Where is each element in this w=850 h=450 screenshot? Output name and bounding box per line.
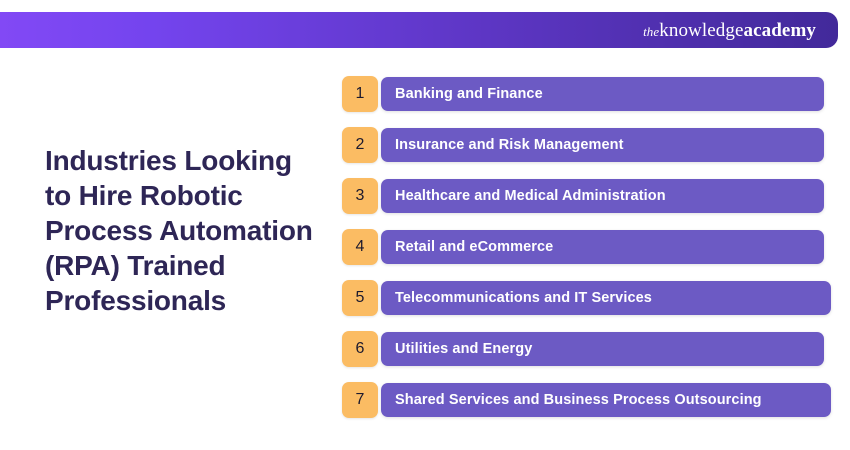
- list-item[interactable]: 4 Retail and eCommerce: [342, 229, 842, 265]
- list-item[interactable]: 1 Banking and Finance: [342, 76, 842, 112]
- item-number-badge: 1: [342, 76, 378, 112]
- list-item[interactable]: 2 Insurance and Risk Management: [342, 127, 842, 163]
- list-item[interactable]: 6 Utilities and Energy: [342, 331, 842, 367]
- item-label: Retail and eCommerce: [395, 239, 553, 255]
- list-item[interactable]: 3 Healthcare and Medical Administration: [342, 178, 842, 214]
- item-label: Banking and Finance: [395, 86, 543, 102]
- item-label: Shared Services and Business Process Out…: [395, 392, 762, 408]
- item-number-badge: 2: [342, 127, 378, 163]
- item-bar[interactable]: Insurance and Risk Management: [381, 128, 824, 162]
- item-bar[interactable]: Healthcare and Medical Administration: [381, 179, 824, 213]
- item-label: Healthcare and Medical Administration: [395, 188, 666, 204]
- item-number-badge: 6: [342, 331, 378, 367]
- item-number-badge: 5: [342, 280, 378, 316]
- list-item[interactable]: 7 Shared Services and Business Process O…: [342, 382, 842, 418]
- content-area: Industries Looking to Hire Robotic Proce…: [0, 48, 850, 450]
- header-bar: theknowledgeacademy: [0, 12, 838, 48]
- item-bar[interactable]: Banking and Finance: [381, 77, 824, 111]
- item-number-badge: 7: [342, 382, 378, 418]
- item-label: Insurance and Risk Management: [395, 137, 624, 153]
- item-bar[interactable]: Retail and eCommerce: [381, 230, 824, 264]
- title-block: Industries Looking to Hire Robotic Proce…: [45, 143, 315, 318]
- item-bar[interactable]: Shared Services and Business Process Out…: [381, 383, 831, 417]
- page-title: Industries Looking to Hire Robotic Proce…: [45, 143, 315, 318]
- item-number-badge: 3: [342, 178, 378, 214]
- item-label: Utilities and Energy: [395, 341, 532, 357]
- logo-academy-text: academy: [744, 20, 816, 41]
- logo-the-text: the: [643, 24, 659, 39]
- item-label: Telecommunications and IT Services: [395, 290, 652, 306]
- logo-knowledge-text: knowledge: [659, 20, 743, 41]
- item-bar[interactable]: Utilities and Energy: [381, 332, 824, 366]
- item-number-badge: 4: [342, 229, 378, 265]
- knowledge-academy-logo: theknowledgeacademy: [643, 21, 816, 40]
- list-item[interactable]: 5 Telecommunications and IT Services: [342, 280, 842, 316]
- item-bar[interactable]: Telecommunications and IT Services: [381, 281, 831, 315]
- industries-list: 1 Banking and Finance 2 Insurance and Ri…: [342, 76, 842, 418]
